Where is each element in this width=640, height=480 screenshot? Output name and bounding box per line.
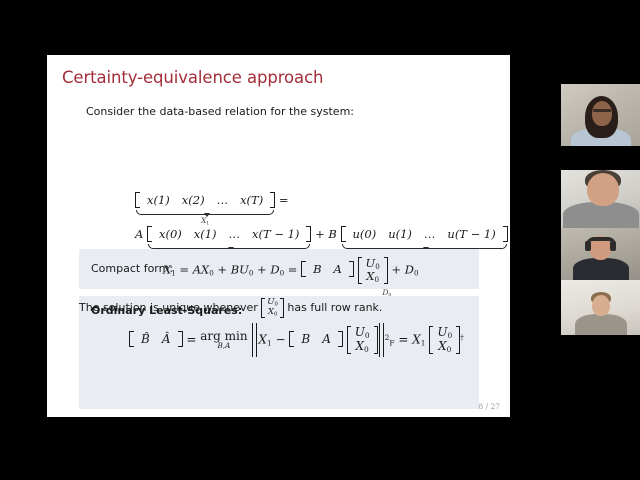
sub: 0 [280, 268, 285, 277]
x1-row-vector: x(1)x(2)…x(T) [135, 193, 275, 207]
pseudoinverse-dagger: † [460, 333, 464, 342]
ols-equation: B̂Â = arg min B,A X1 − BA U0 X0 2F = X1 … [129, 326, 464, 354]
cell: Â [156, 332, 177, 346]
equals: = [288, 262, 298, 276]
minus: − [276, 332, 286, 346]
row-top: U0 [434, 326, 455, 340]
rhs-ux-column-matrix: U0 X0 [429, 326, 460, 354]
video-tile-participant-2[interactable] [561, 170, 640, 228]
ols-heading: Ordinary Least-Squares: [91, 304, 242, 317]
video-tile-participant-1[interactable] [561, 84, 640, 146]
page-number: 8 / 27 [478, 402, 500, 411]
term-ax0: AX [193, 262, 210, 276]
cell: B [307, 262, 327, 276]
brace-glyph [341, 241, 508, 248]
lhs-sub: 1 [171, 268, 176, 277]
sub: 0 [414, 268, 419, 277]
equals: = [186, 332, 196, 346]
headphone-cup-right [610, 241, 616, 251]
face [592, 295, 610, 316]
u0-underbrace: u(0)u(1)…u(T − 1) U0 [341, 227, 508, 241]
row-bottom: X0 [434, 340, 455, 354]
term-bu0: BU [231, 262, 249, 276]
cell: A [328, 262, 348, 276]
sub: 1 [267, 338, 272, 347]
presentation-slide: Certainty-equivalence approach Consider … [47, 55, 510, 417]
glasses-icon [593, 109, 611, 112]
ba-row-matrix: BA [289, 332, 343, 346]
x0-underbrace: x(0)x(1)…x(T − 1) X0 [147, 227, 311, 241]
video-tile-participant-3[interactable] [561, 228, 640, 280]
plus: + [217, 262, 227, 276]
row-top: U0 [363, 257, 383, 270]
cell: x(2) [176, 193, 211, 207]
equals-sign: = [279, 193, 289, 207]
cell: B [295, 332, 316, 346]
bhat-ahat-matrix: B̂Â [129, 332, 183, 346]
cell: u(0) [347, 227, 383, 241]
rhs-x1: X [412, 332, 421, 346]
x1: X [258, 332, 267, 346]
cell: B̂ [135, 332, 156, 346]
equals: = [398, 332, 408, 346]
cell: x(1) [188, 227, 223, 241]
term-d0: D [270, 262, 279, 276]
headphone-cup-left [585, 241, 591, 251]
cell: u(1) [382, 227, 418, 241]
face [592, 101, 612, 126]
sub: 1 [421, 338, 426, 347]
norm-subscript: F [389, 338, 394, 347]
x0-row-vector: x(0)x(1)…x(T − 1) [147, 227, 311, 241]
equation-row-2: A x(0)x(1)…x(T − 1) X0 + B u(0)u(1)…u(T … [135, 227, 508, 241]
plus-sign: + [315, 227, 325, 241]
row-bottom: X0 [352, 340, 373, 354]
plus: + [391, 262, 401, 276]
ba-row-matrix: BA [301, 262, 354, 276]
equation-row-1: x(1)x(2)…x(T) X1 = [135, 193, 289, 207]
compact-form-equation: X1 = AX0 + BU0 + D0 = BA U0 X0 + D0 [163, 257, 418, 284]
cell: x(T) [234, 193, 269, 207]
brace-glyph [147, 241, 311, 248]
row-bottom: X0 [264, 308, 281, 318]
coefficient-b: B [328, 227, 336, 241]
sub: 0 [209, 268, 214, 277]
frobenius-norm: X1 − BA U0 X0 [251, 326, 384, 354]
ordinary-least-squares-box: Ordinary Least-Squares: B̂Â = arg min B,… [79, 296, 479, 409]
brace-glyph [135, 207, 275, 214]
cell: x(T − 1) [246, 227, 305, 241]
cell: … [223, 227, 247, 241]
cell: … [418, 227, 442, 241]
argmin-bottom: B,A [200, 342, 247, 349]
cell: x(1) [141, 193, 176, 207]
lhs: X [163, 262, 171, 276]
page-title: Certainty-equivalence approach [62, 68, 323, 87]
plus: + [257, 262, 267, 276]
cell: u(T − 1) [441, 227, 501, 241]
u0-row-vector: u(0)u(1)…u(T − 1) [341, 227, 508, 241]
compact-form-box: Compact form: X1 = AX0 + BU0 + D0 = BA U… [79, 249, 479, 289]
underbrace-label: X1 [135, 216, 275, 226]
closing-column-matrix: U0 X0 [261, 298, 284, 318]
torso [575, 314, 627, 335]
equals: = [179, 262, 189, 276]
closing-post: has full row rank. [287, 301, 382, 314]
sub: 0 [249, 268, 254, 277]
coefficient-a: A [135, 227, 143, 241]
row-bottom: X0 [363, 270, 383, 283]
row-top: U0 [352, 326, 373, 340]
x1-underbrace: x(1)x(2)…x(T) X1 [135, 193, 275, 207]
cell: x(0) [153, 227, 188, 241]
ux-column-matrix: U0 X0 [358, 257, 388, 284]
face [587, 173, 619, 206]
cell: … [211, 193, 235, 207]
argmin-operator: arg min B,A [200, 330, 247, 349]
tail-d0: D [405, 262, 414, 276]
intro-text: Consider the data-based relation for the… [86, 105, 354, 118]
video-tile-participant-4[interactable] [561, 280, 640, 335]
cell: A [316, 332, 337, 346]
compact-form-label: Compact form: [91, 262, 173, 275]
ux-column-matrix: U0 X0 [347, 326, 378, 354]
torso [573, 258, 629, 280]
